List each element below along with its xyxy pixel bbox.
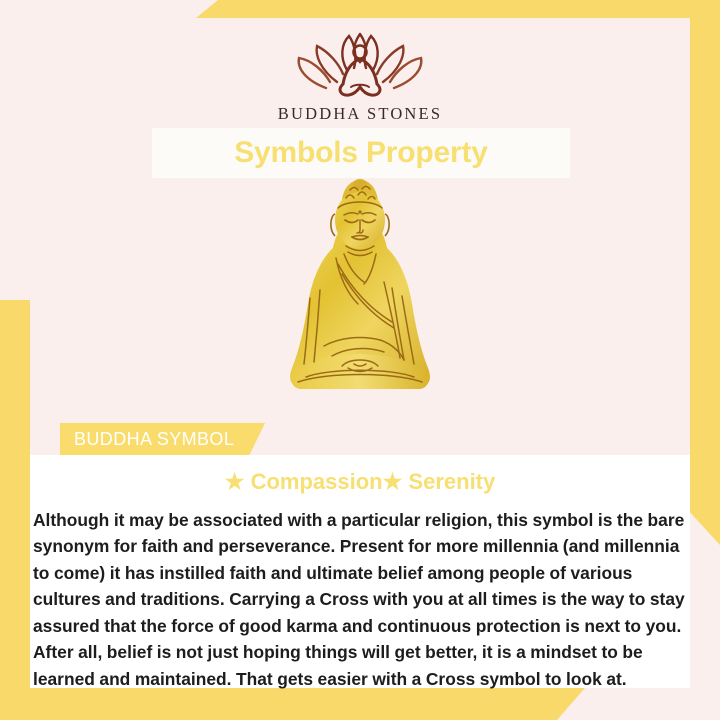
category-badge-label: BUDDHA SYMBOL <box>60 429 234 450</box>
hero-section: BUDDHA STONES Symbols Property <box>30 18 690 455</box>
lotus-meditation-icon <box>285 30 435 98</box>
poster-root: BUDDHA STONES Symbols Property <box>0 0 720 720</box>
page-title: Symbols Property <box>234 136 488 170</box>
decorative-right-band <box>690 0 720 545</box>
brand-name: BUDDHA STONES <box>278 104 442 124</box>
category-badge: BUDDHA SYMBOL <box>60 423 265 456</box>
content-paragraph: Although it may be associated with a par… <box>31 507 689 692</box>
decorative-top-band <box>196 0 720 18</box>
content-subtitle: ★ Compassion★ Serenity <box>31 469 689 495</box>
decorative-bottom-band <box>0 688 585 720</box>
buddha-image <box>30 178 690 410</box>
decorative-left-band <box>0 300 30 700</box>
content-panel: ★ Compassion★ Serenity Although it may b… <box>30 455 690 688</box>
title-banner: Symbols Property <box>152 128 570 178</box>
seated-buddha-statue-icon <box>280 178 440 410</box>
brand-logo: BUDDHA STONES <box>30 30 690 124</box>
